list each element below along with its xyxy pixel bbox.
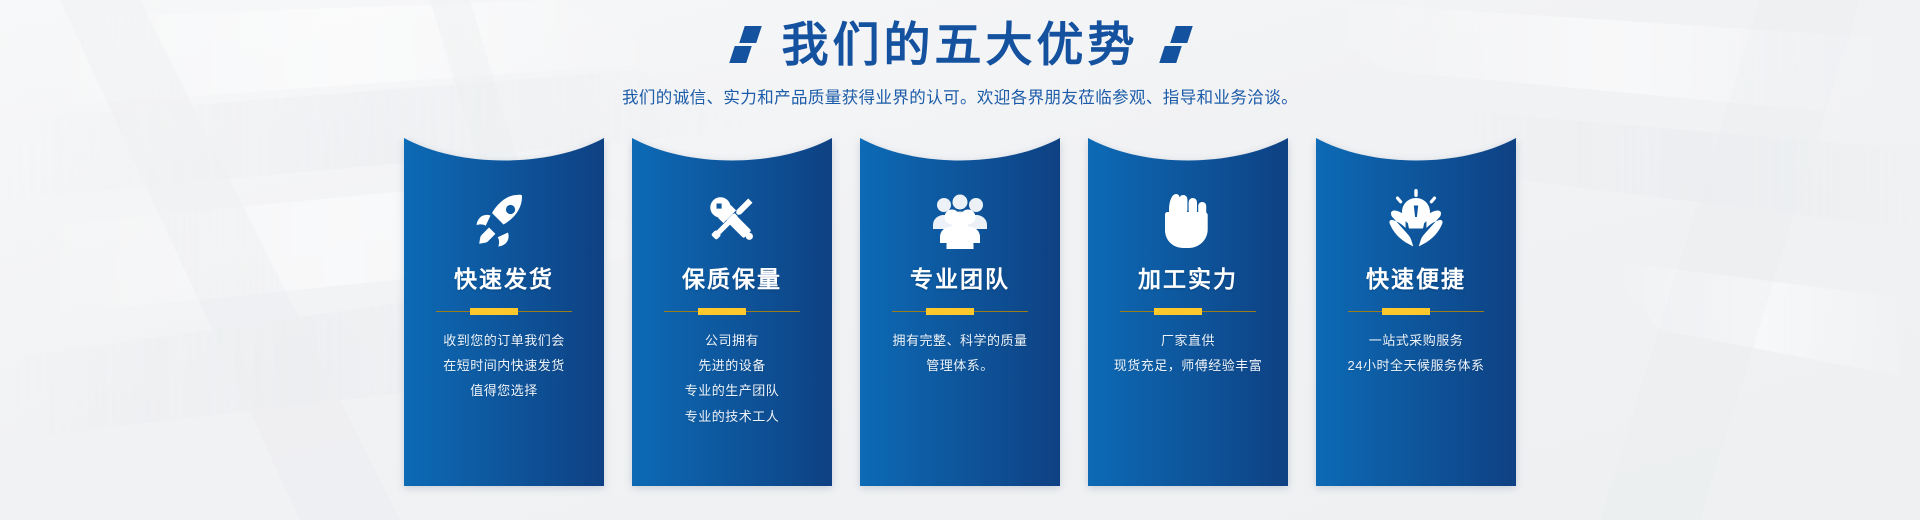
- card-title: 加工实力: [1138, 266, 1238, 294]
- desc-line: 专业的技术工人: [685, 404, 780, 429]
- title-row: 我们的五大优势: [0, 0, 1920, 72]
- advantage-card[interactable]: 加工实力 厂家直供 现货充足，师傅经验丰富: [1088, 138, 1288, 486]
- desc-line: 24小时全天候服务体系: [1348, 353, 1485, 378]
- double-slash-mark-left-icon: [730, 24, 762, 66]
- advantage-card[interactable]: 快速便捷 一站式采购服务 24小时全天候服务体系: [1316, 138, 1516, 486]
- page-title: 我们的五大优势: [782, 18, 1139, 72]
- advantage-card[interactable]: 专业团队 拥有完整、科学的质量 管理体系。: [860, 138, 1060, 486]
- rocket-icon: [466, 182, 542, 256]
- card-description: 厂家直供 现货充足，师傅经验丰富: [1114, 328, 1263, 379]
- fist-icon: [1150, 182, 1226, 256]
- section-header: 我们的五大优势 我们的诚信、实力和产品质量获得业界的认可。欢迎各界朋友莅临参观、…: [0, 0, 1920, 108]
- double-slash-mark-right-icon: [1159, 24, 1191, 66]
- hands-lightbulb-icon: [1378, 182, 1454, 256]
- card-description: 收到您的订单我们会 在短时间内快速发货 值得您选择: [443, 328, 565, 404]
- gold-divider: [1348, 308, 1484, 315]
- desc-line: 拥有完整、科学的质量: [892, 328, 1027, 353]
- gold-divider: [1120, 308, 1256, 315]
- gold-divider: [664, 308, 800, 315]
- desc-line: 现货充足，师傅经验丰富: [1114, 353, 1263, 378]
- card-description: 一站式采购服务 24小时全天候服务体系: [1348, 328, 1485, 379]
- desc-line: 先进的设备: [685, 353, 780, 378]
- card-title: 专业团队: [910, 266, 1010, 294]
- desc-line: 值得您选择: [443, 378, 565, 403]
- card-title: 快速便捷: [1366, 266, 1466, 294]
- section-subtitle: 我们的诚信、实力和产品质量获得业界的认可。欢迎各界朋友莅临参观、指导和业务洽谈。: [0, 84, 1920, 108]
- advantage-card[interactable]: 快速发货 收到您的订单我们会 在短时间内快速发货 值得您选择: [404, 138, 604, 486]
- desc-line: 在短时间内快速发货: [443, 353, 565, 378]
- advantage-card-list: 快速发货 收到您的订单我们会 在短时间内快速发货 值得您选择: [0, 138, 1920, 498]
- team-people-icon: [922, 182, 998, 256]
- desc-line: 公司拥有: [685, 328, 780, 353]
- wrench-screwdriver-icon: [694, 182, 770, 256]
- desc-line: 一站式采购服务: [1348, 328, 1485, 353]
- card-description: 拥有完整、科学的质量 管理体系。: [892, 328, 1027, 379]
- desc-line: 厂家直供: [1114, 328, 1263, 353]
- desc-line: 管理体系。: [892, 353, 1027, 378]
- desc-line: 收到您的订单我们会: [443, 328, 565, 353]
- gold-divider: [436, 308, 572, 315]
- gold-divider: [892, 308, 1028, 315]
- advantage-card[interactable]: 保质保量 公司拥有 先进的设备 专业的生产团队 专业的技术工人: [632, 138, 832, 486]
- card-description: 公司拥有 先进的设备 专业的生产团队 专业的技术工人: [685, 328, 780, 429]
- card-title: 保质保量: [682, 266, 782, 294]
- desc-line: 专业的生产团队: [685, 378, 780, 403]
- card-title: 快速发货: [454, 266, 554, 294]
